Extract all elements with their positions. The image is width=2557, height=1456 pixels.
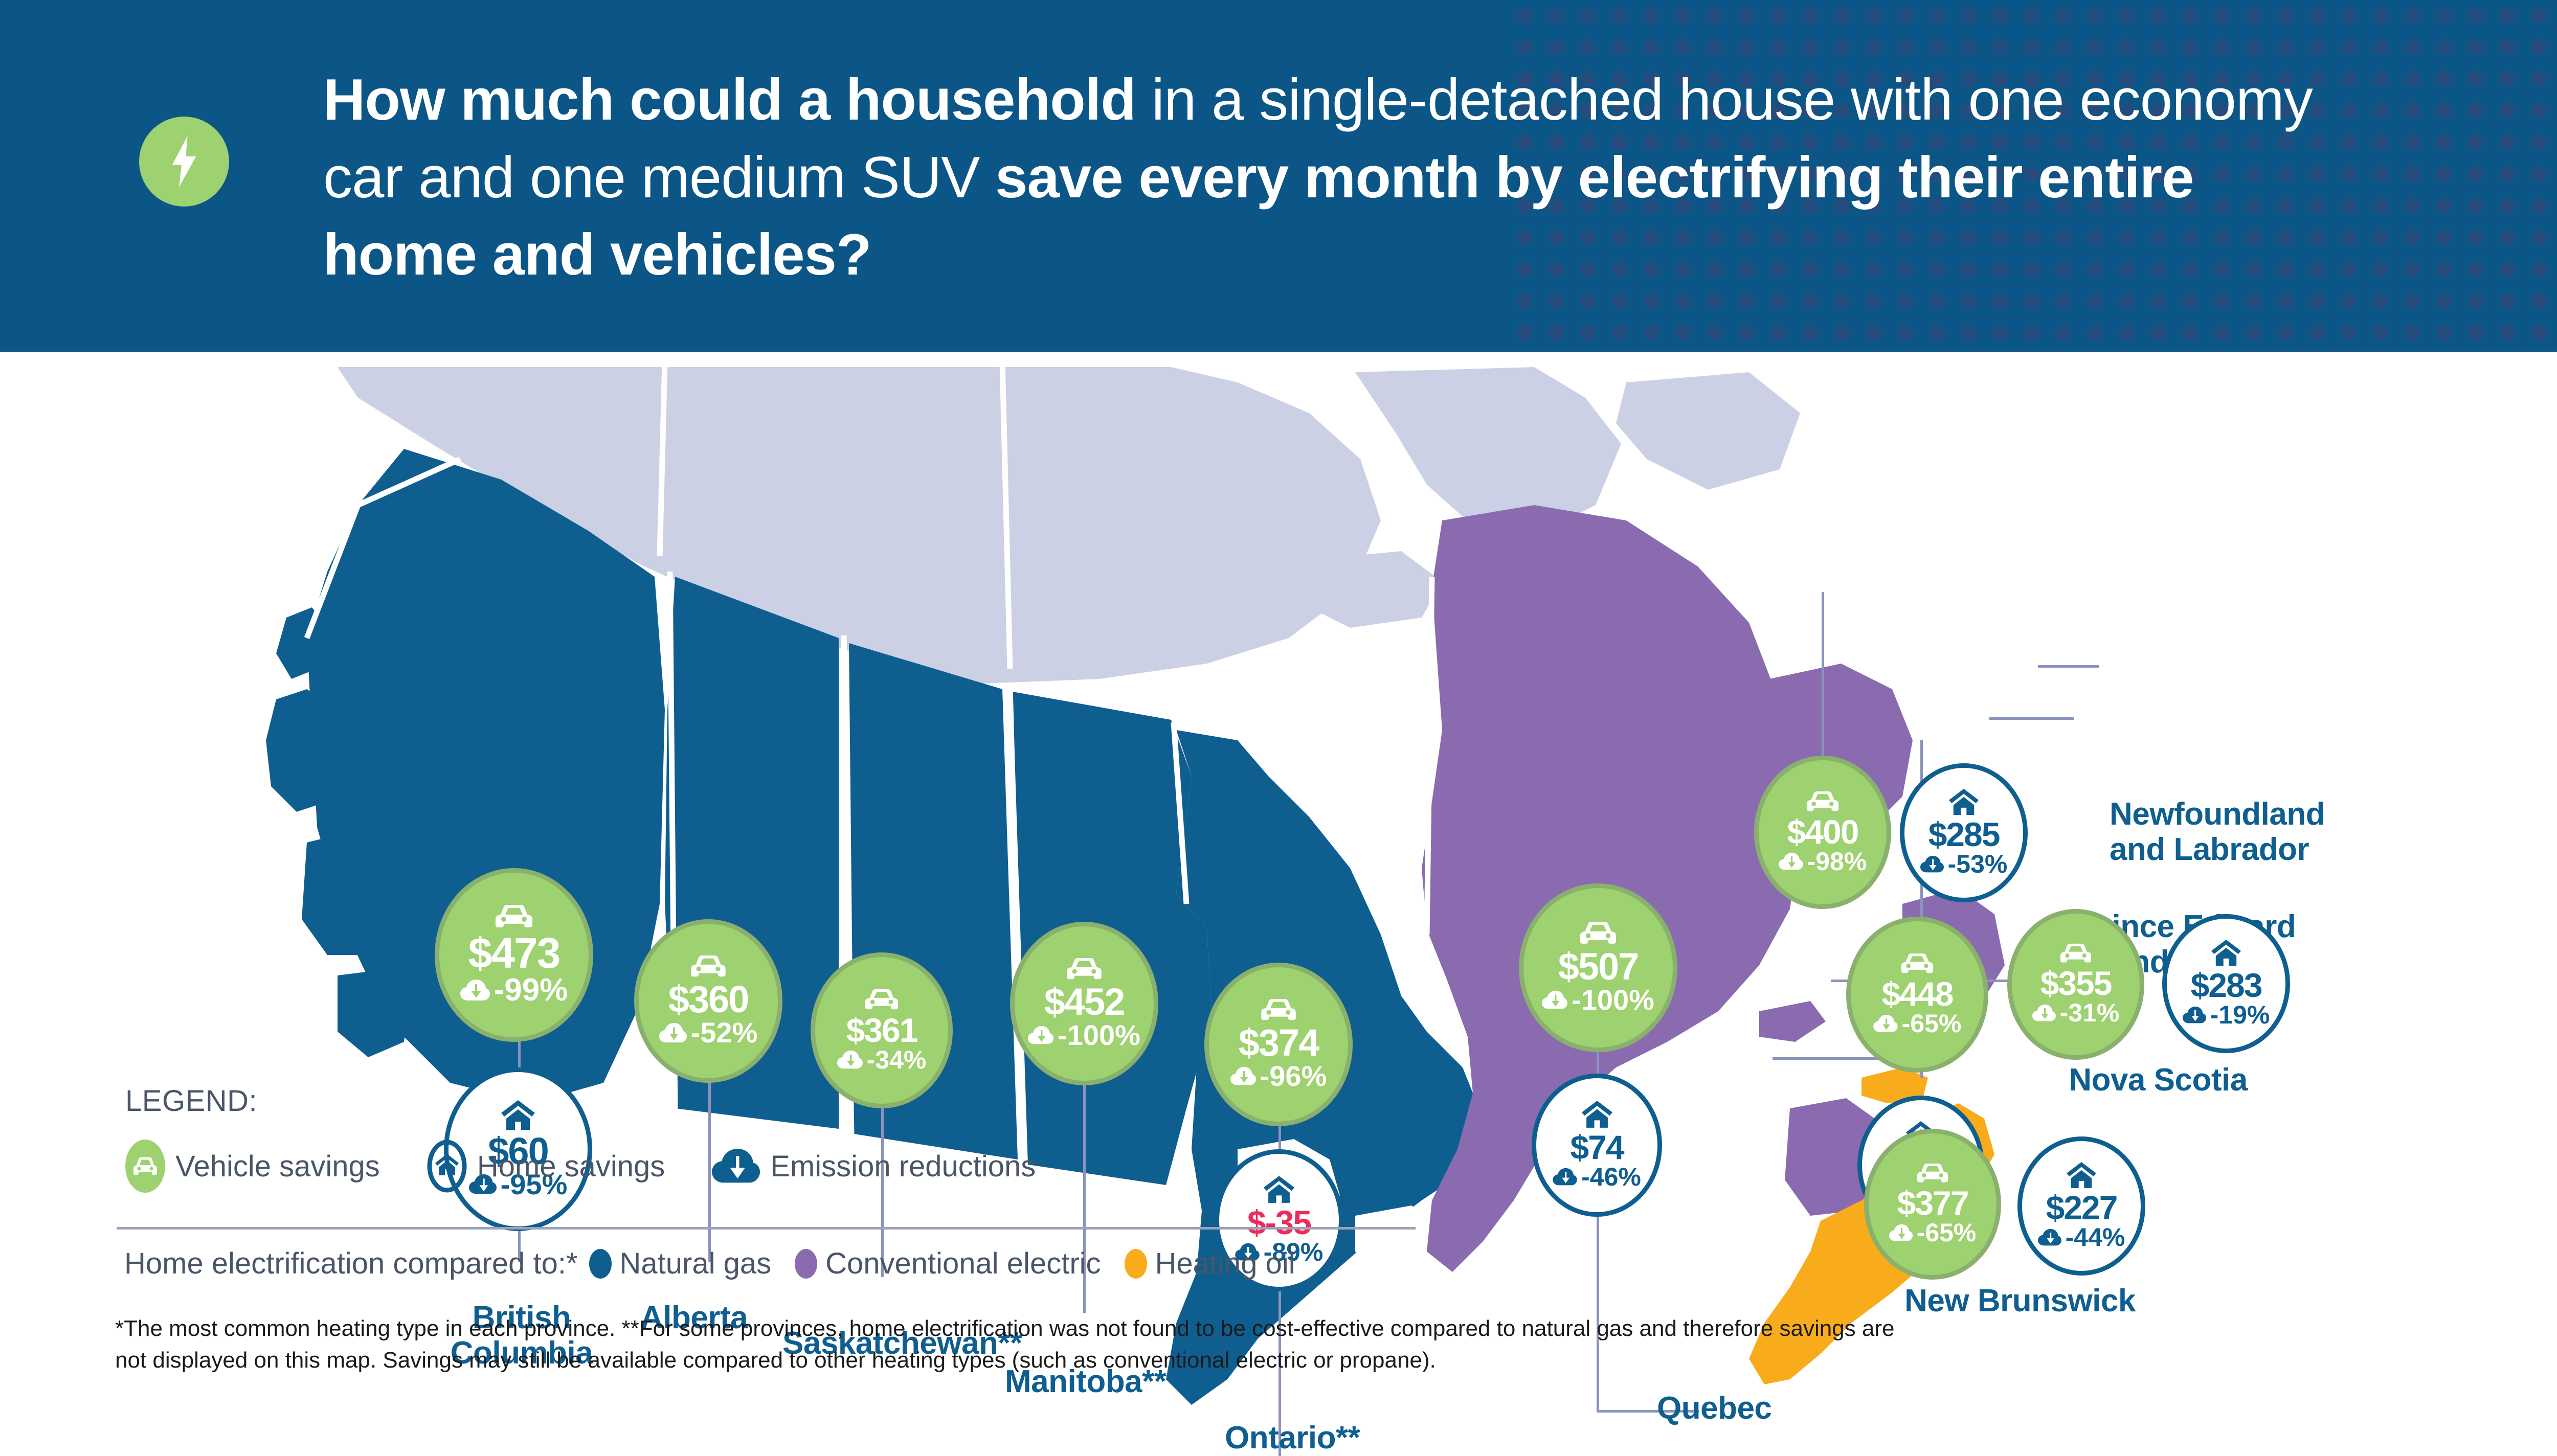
house-icon [1582, 1101, 1612, 1130]
cloud-down-arrow-icon [1553, 1168, 1577, 1186]
bubble-emission-pct: -99% [460, 974, 568, 1006]
legend-item-vehicle-savings: Vehicle savings [125, 1140, 380, 1193]
cloud-down-arrow-icon [1230, 1066, 1256, 1086]
bubble-emission-pct: -34% [837, 1047, 927, 1073]
legend-item-emission-reductions: Emission reductions [712, 1148, 1036, 1185]
connector-newfoundland-label [2038, 665, 2099, 668]
cloud-down-arrow-icon [1779, 852, 1803, 871]
bubble-amount: $285 [1928, 817, 2000, 851]
bubble-amount: $-35 [1247, 1205, 1311, 1239]
bubble-amount: $360 [668, 981, 749, 1018]
province-label-newfoundland-and-labrador: Newfoundland and Labrador [2110, 797, 2519, 868]
page-title-bold-lead: How much could a household [323, 67, 1136, 132]
bubble-vehicle-newfoundland-and-labrador[interactable]: $400 -98% [1754, 756, 1891, 909]
conventional-electric-color-dot [795, 1249, 817, 1279]
bubble-emission-pct: -100% [1542, 986, 1654, 1014]
bubble-home-new-brunswick[interactable]: $227 -44% [2017, 1136, 2145, 1276]
bubble-vehicle-manitoba[interactable]: $452 -100% [1010, 922, 1158, 1085]
cloud-down-arrow-icon [1873, 1014, 1898, 1033]
bubble-emission-pct: -19% [2183, 1002, 2270, 1028]
natural-gas-color-dot [589, 1249, 612, 1279]
bubble-amount: $507 [1558, 948, 1639, 986]
bubble-home-quebec[interactable]: $74 -46% [1532, 1074, 1662, 1217]
connector-pei-label [1989, 717, 2074, 720]
bubble-vehicle-alberta[interactable]: $360 -52% [634, 919, 782, 1083]
legend-item-label: Vehicle savings [175, 1149, 380, 1184]
cloud-down-arrow-icon [659, 1022, 687, 1043]
cloud-down-arrow-icon [1889, 1224, 1913, 1242]
bubble-amount: $355 [2040, 966, 2112, 1000]
bubble-emission-pct: -65% [1889, 1220, 1977, 1245]
cloud-down-arrow-icon [837, 1050, 863, 1070]
legend-item-label: Emission reductions [770, 1149, 1036, 1184]
legend-item-label: Home savings [477, 1149, 665, 1184]
bubble-emission-pct: -65% [1873, 1011, 1962, 1036]
car-icon [495, 904, 533, 931]
bubble-amount: $374 [1239, 1024, 1319, 1062]
cloud-down-arrow-icon [460, 979, 490, 1002]
heating-comparison-label: Home electrification compared to:* [124, 1246, 578, 1281]
car-icon [1066, 958, 1102, 983]
bubble-vehicle-quebec[interactable]: $507 -100% [1519, 883, 1677, 1052]
cloud-down-arrow-icon [1920, 855, 1944, 873]
bubble-home-nova-scotia[interactable]: $283 -19% [2162, 914, 2290, 1053]
footnote-text: *The most common heating type in each pr… [115, 1313, 1905, 1377]
bubble-emission-pct: -31% [2032, 1000, 2120, 1026]
house-icon [2211, 940, 2241, 968]
car-icon [865, 989, 899, 1013]
header-banner: How much could a household in a single-d… [0, 0, 2557, 352]
province-label-quebec: Quebec [1657, 1391, 1872, 1426]
legend-items: Vehicle savings Home savings Emission re… [125, 1140, 1455, 1193]
bubble-emission-pct: -44% [2038, 1224, 2125, 1250]
car-icon [1917, 1163, 1948, 1186]
house-icon [1949, 789, 1979, 817]
cloud-down-arrow-icon [712, 1148, 760, 1185]
heating-comparison-row: Home electrification compared to:* Natur… [124, 1246, 1319, 1281]
house-icon [427, 1140, 467, 1193]
heating-option-label: Natural gas [620, 1246, 772, 1281]
bubble-emission-pct: -98% [1779, 849, 1867, 874]
cloud-down-arrow-icon [1542, 990, 1567, 1010]
page-title: How much could a household in a single-d… [323, 61, 2318, 294]
cloud-down-arrow-icon [1028, 1026, 1053, 1045]
bubble-vehicle-prince-edward-island[interactable]: $448 -65% [1846, 917, 1988, 1073]
car-icon [1261, 998, 1296, 1024]
heating-oil-color-dot [1125, 1249, 1147, 1279]
bubble-amount: $377 [1897, 1186, 1968, 1220]
legend: LEGEND: Vehicle savings Home savings Emi… [125, 1084, 1455, 1193]
car-icon [1901, 953, 1934, 977]
bubble-amount: $452 [1044, 983, 1125, 1021]
car-icon [125, 1140, 165, 1193]
bubble-amount: $473 [468, 931, 560, 974]
heating-option-label: Conventional electric [825, 1246, 1101, 1281]
car-icon [1580, 921, 1617, 948]
province-label-nova-scotia: Nova Scotia [1994, 1062, 2322, 1098]
car-icon [690, 955, 726, 981]
heating-option-heating-oil: Heating oil [1125, 1246, 1295, 1281]
legend-item-home-savings: Home savings [427, 1140, 665, 1193]
house-icon [2067, 1162, 2096, 1191]
bubble-amount: $361 [846, 1013, 917, 1047]
bubble-emission-pct: -100% [1028, 1021, 1140, 1050]
bubble-emission-pct: -53% [1920, 851, 2008, 877]
heating-option-conventional-electric: Conventional electric [795, 1246, 1101, 1281]
bubble-amount: $448 [1882, 977, 1953, 1011]
bubble-vehicle-new-brunswick[interactable]: $377 -65% [1864, 1129, 2001, 1280]
heating-option-label: Heating oil [1155, 1246, 1295, 1281]
bubble-amount: $283 [2191, 968, 2262, 1002]
bubble-emission-pct: -46% [1553, 1164, 1641, 1190]
cloud-down-arrow-icon [2183, 1006, 2206, 1024]
lightning-bolt-icon [139, 117, 229, 207]
heating-option-natural-gas: Natural gas [589, 1246, 772, 1281]
legend-divider [117, 1227, 1416, 1230]
car-icon [2060, 943, 2092, 966]
bubble-amount: $227 [2046, 1191, 2117, 1224]
cloud-down-arrow-icon [2032, 1004, 2056, 1022]
bubble-emission-pct: -52% [659, 1018, 758, 1047]
legend-title: LEGEND: [125, 1084, 1455, 1118]
bubble-amount: $400 [1787, 815, 1858, 849]
bubble-vehicle-british-columbia[interactable]: $473 -99% [435, 868, 593, 1042]
bubble-amount: $74 [1570, 1130, 1623, 1164]
bubble-home-newfoundland-and-labrador[interactable]: $285 -53% [1900, 763, 2028, 902]
cloud-down-arrow-icon [2038, 1228, 2061, 1246]
car-icon [1806, 791, 1839, 815]
bubble-vehicle-nova-scotia[interactable]: $355 -31% [2007, 909, 2144, 1060]
